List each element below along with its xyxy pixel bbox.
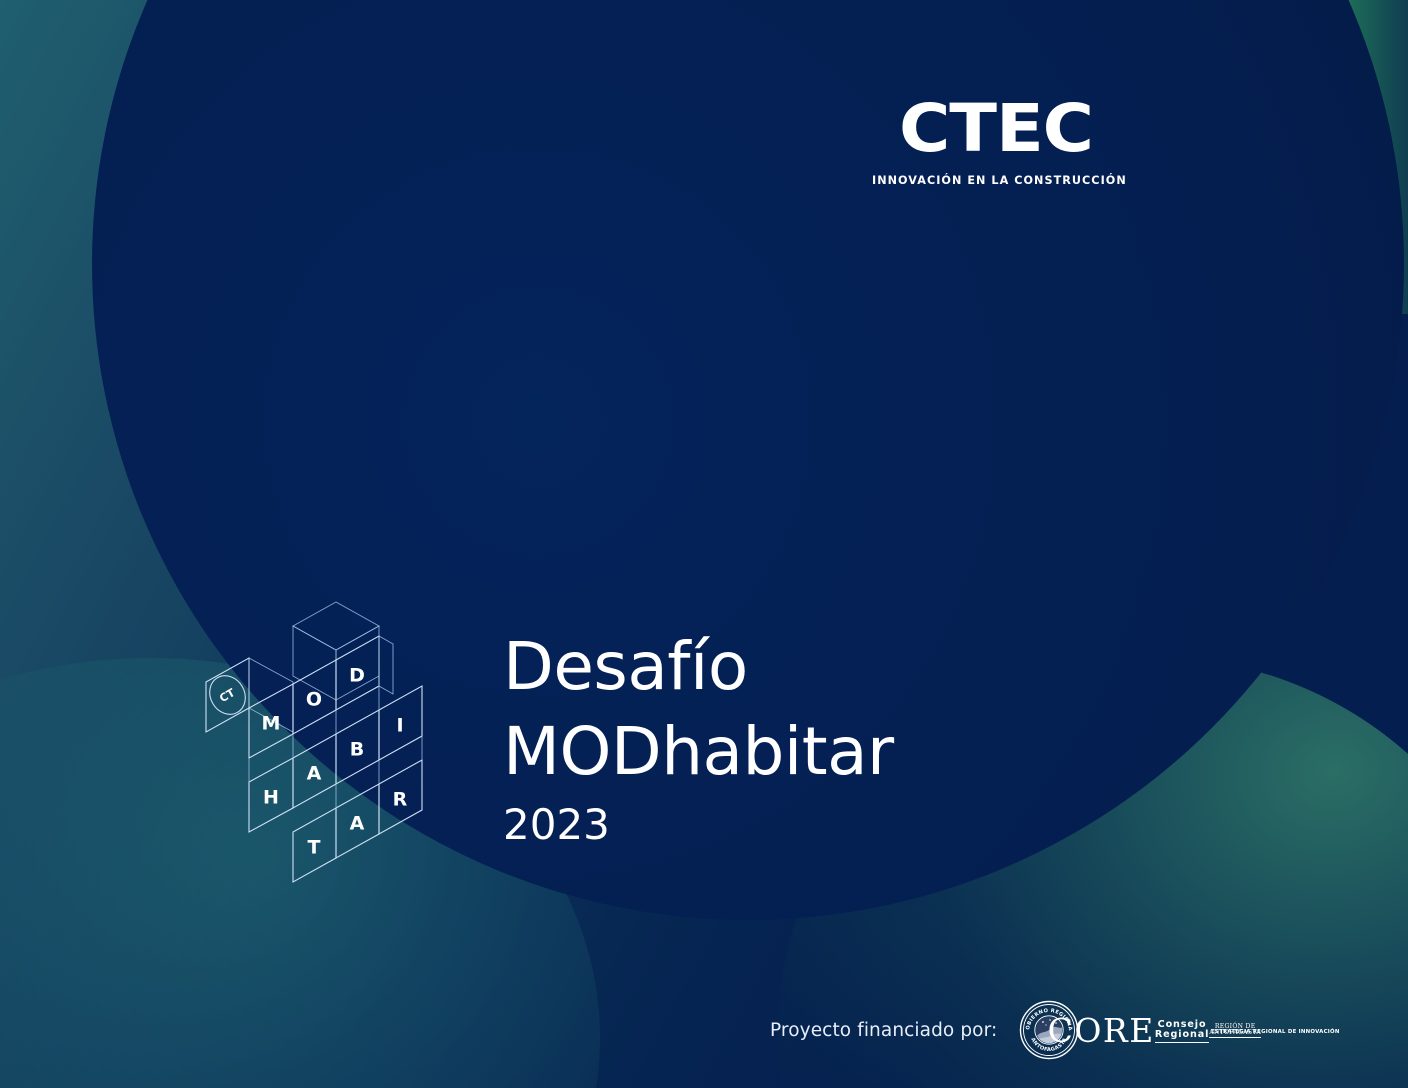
ctec-wordmark: CTEC [865,96,1128,162]
background-green-band [1186,0,1408,314]
mark-letter-b: B [350,739,364,761]
title-line-2: MODhabitar [503,709,1123,794]
mark-letter-i: I [396,715,403,737]
sponsor-logo-eri: E R I ESTRATEGIA REGIONAL DE INNOVACIÓN [1229,1013,1321,1047]
mark-ct-badge: CT [217,686,237,705]
ctec-tagline: INNOVACIÓN EN LA CONSTRUCCIÓN [872,174,1120,187]
mark-ct-panel: CT [203,658,252,732]
title-slide: CTEC INNOVACIÓN EN LA CONSTRUCCIÓN CT [0,0,1408,1088]
ctec-logo: CTEC INNOVACIÓN EN LA CONSTRUCCIÓN [872,96,1120,187]
core-subtitle: Consejo Regional [1155,1020,1209,1042]
mark-d-sidewall [379,636,393,694]
background-teal-wash [0,0,1408,1088]
core-wordmark: CORE [1048,1014,1155,1047]
mark-letter-a1: A [307,763,322,785]
footer-funding-label: Proyecto financiado por: [770,1020,997,1041]
modhabitar-isometric-mark: CT M O D H A B [186,600,454,900]
sponsor-logo-core: CORE Consejo Regional REGIÓN DE ANTOFAGA… [1101,1014,1207,1047]
footer-sponsors: Proyecto financiado por: [770,998,1321,1062]
mark-letter-a2: A [350,813,365,835]
mark-letter-o: O [306,689,322,711]
eri-subtitle: ESTRATEGIA REGIONAL DE INNOVACIÓN [1211,1029,1340,1035]
mark-letter-r: R [393,789,408,811]
title-line-1: Desafío [503,624,1123,709]
mark-letter-d: D [349,665,365,687]
title-year: 2023 [503,804,1123,846]
title-block: Desafío MODhabitar 2023 [503,624,1123,846]
mark-letter-h: H [263,787,279,809]
mark-letter-m: M [262,713,281,735]
mark-letter-t: T [308,837,321,859]
